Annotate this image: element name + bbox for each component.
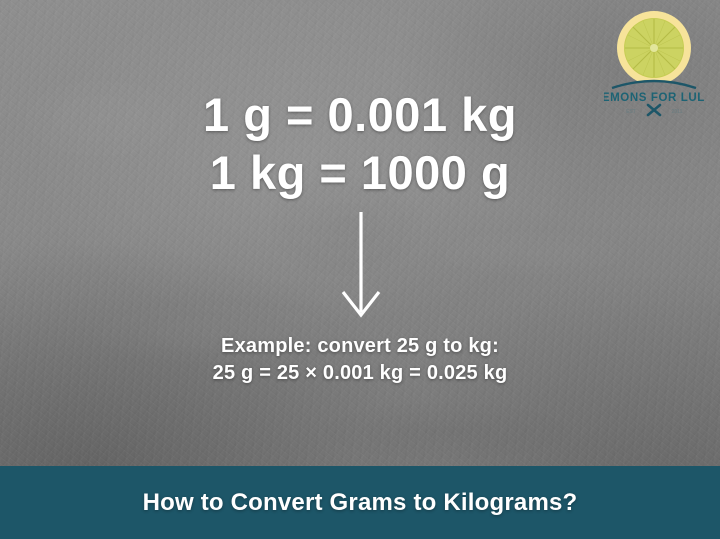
lemon-slice-icon [617,11,691,85]
down-arrow-icon [330,208,392,320]
example-block: Example: convert 25 g to kg: 25 g = 25 ×… [0,333,720,387]
example-heading: Example: convert 25 g to kg: [0,333,720,360]
equation-gram-to-kilogram: 1 g = 0.001 kg [0,86,720,144]
banner-title: How to Convert Grams to Kilograms? [143,489,578,517]
example-calculation: 25 g = 25 × 0.001 kg = 0.025 kg [0,360,720,387]
equation-kilogram-to-gram: 1 kg = 1000 g [0,144,720,202]
bottom-banner: How to Convert Grams to Kilograms? [0,466,720,539]
infographic-canvas: LEMONS FOR LULU EST 2011 1 g = 0.001 kg … [0,0,720,539]
conversion-equations: 1 g = 0.001 kg 1 kg = 1000 g [0,86,720,202]
